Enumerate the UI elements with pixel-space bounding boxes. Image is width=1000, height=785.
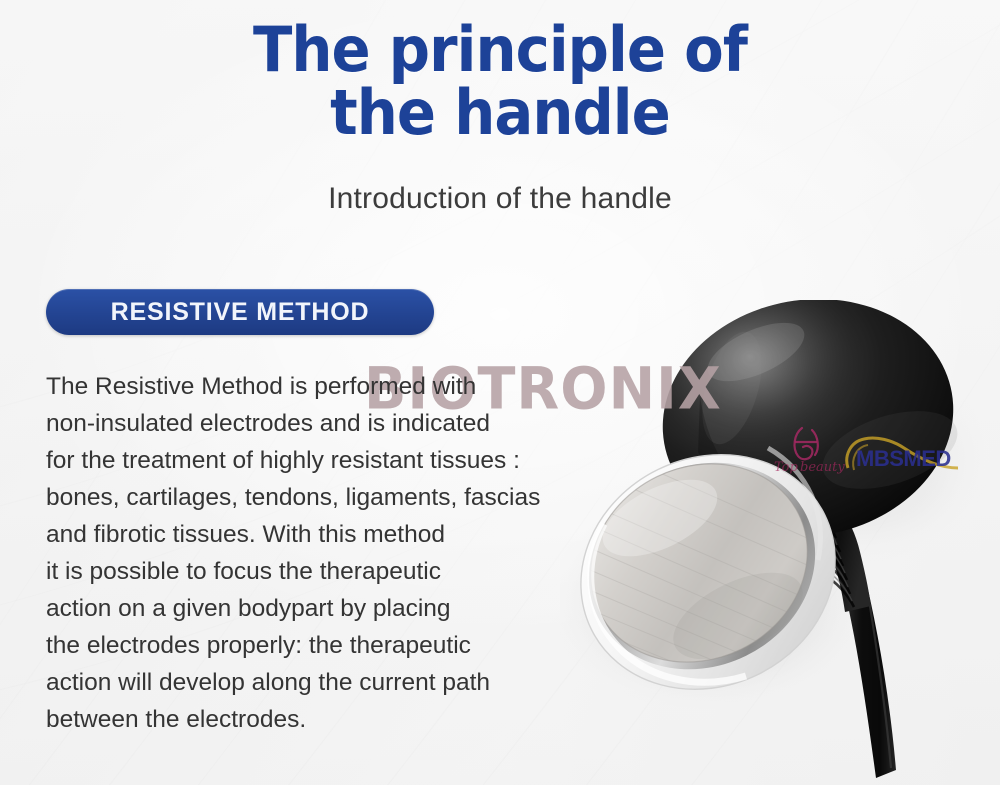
svg-text:beauty: beauty	[800, 460, 845, 475]
body-line-9: action will develop along the current pa…	[46, 664, 646, 701]
body-line-8: the electrodes properly: the therapeutic	[46, 627, 646, 664]
resistive-method-badge-label: RESISTIVE METHOD	[111, 298, 370, 327]
main-title: The principle of the handle	[35, 18, 965, 144]
body-line-7: action on a given bodypart by placing	[46, 590, 646, 627]
svg-text:MBSMED: MBSMED	[856, 446, 951, 471]
page-title: The principle of the handle	[0, 18, 1000, 144]
body-line-1: The Resistive Method is performed with	[46, 368, 646, 405]
body-line-4: bones, cartilages, tendons, ligaments, f…	[46, 479, 646, 516]
main-title-line-2: the handle	[35, 81, 965, 144]
body-line-6: it is possible to focus the therapeutic	[46, 553, 646, 590]
body-line-3: for the treatment of highly resistant ti…	[46, 442, 646, 479]
svg-text:Top: Top	[774, 460, 798, 475]
promo-banner: The principle of the handle Introduction…	[0, 0, 1000, 785]
body-line-5: and fibrotic tissues. With this method	[46, 516, 646, 553]
resistive-method-badge: RESISTIVE METHOD	[46, 289, 434, 335]
body-line-10: between the electrodes.	[46, 701, 646, 738]
body-line-2: non-insulated electrodes and is indicate…	[46, 405, 646, 442]
main-title-line-1: The principle of	[35, 18, 965, 81]
mbsmed-logo-watermark: MBSMED	[842, 434, 964, 478]
page-subtitle: Introduction of the handle	[0, 182, 1000, 216]
body-copy: The Resistive Method is performed with n…	[46, 368, 646, 738]
